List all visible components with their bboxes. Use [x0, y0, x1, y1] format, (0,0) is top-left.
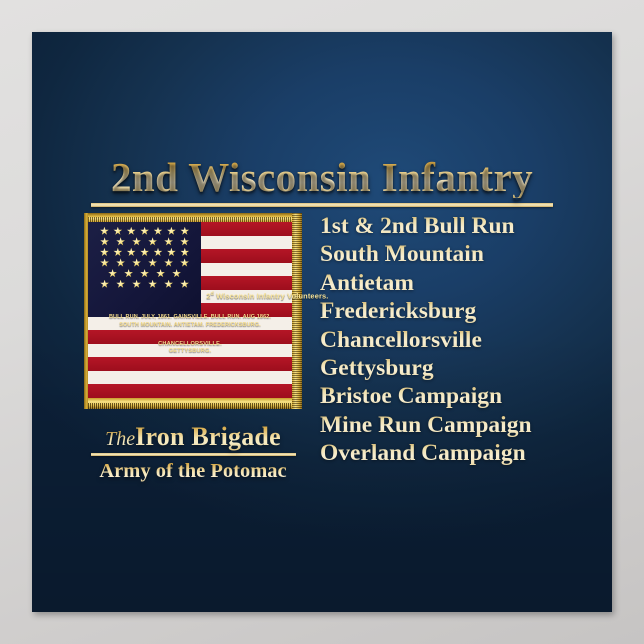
star-icon [116, 258, 125, 267]
campaign-item: Overland Campaign [320, 439, 582, 467]
flag-battle-inscription-lower: CHANCELLORSVILLE. GETTYSBURG. [88, 341, 292, 356]
star-icon [167, 248, 176, 257]
star-row [88, 227, 201, 236]
star-icon [132, 258, 141, 267]
flag-fringe-right [292, 213, 302, 409]
brigade-block: TheIron Brigade Army of the Potomac [84, 424, 302, 484]
flag-stripe [88, 357, 292, 371]
star-icon [132, 280, 141, 289]
star-icon [140, 227, 149, 236]
campaign-item: South Mountain [320, 240, 582, 268]
campaign-item: Fredericksburg [320, 297, 582, 325]
star-icon [100, 280, 109, 289]
poster: 2nd Wisconsin Infantry 2d Wisconsin Infa… [32, 32, 612, 612]
star-icon [180, 258, 189, 267]
flag-fringe-bottom [84, 398, 302, 409]
brigade-name: Iron Brigade [135, 422, 281, 451]
star-icon [116, 237, 125, 246]
campaign-item: 1st & 2nd Bull Run [320, 212, 582, 240]
star-icon [113, 227, 122, 236]
flag-battle-line-2: SOUTH MOUNTAIN. ANTIETAM. FREDERICKSBURG… [88, 322, 292, 329]
star-icon [140, 248, 149, 257]
flag-fringe-top [84, 213, 302, 222]
star-icon [154, 227, 163, 236]
star-icon [140, 269, 149, 278]
brigade-underline [91, 453, 296, 456]
title-block: 2nd Wisconsin Infantry [32, 157, 612, 207]
flag-battle-line-1: BULL RUN. JULY, 1861. GAINSVILLE. BULL R… [88, 314, 292, 321]
title-underline [91, 203, 553, 207]
campaign-item: Gettysburg [320, 354, 582, 382]
star-icon [172, 269, 181, 278]
star-row [88, 248, 201, 257]
star-icon [180, 248, 189, 257]
army-name: Army of the Potomac [84, 460, 302, 484]
regimental-flag: 2d Wisconsin Infantry Volunteers. BULL R… [84, 213, 302, 409]
star-icon [100, 258, 109, 267]
flag-canton [88, 222, 201, 317]
ordinal-suffix: d [210, 291, 213, 297]
flag-field: 2d Wisconsin Infantry Volunteers. BULL R… [88, 222, 292, 398]
star-icon [164, 237, 173, 246]
flag-battle-line-4: GETTYSBURG. [88, 348, 292, 356]
star-icon [154, 248, 163, 257]
star-icon [116, 280, 125, 289]
star-icon [180, 227, 189, 236]
star-icon [127, 227, 136, 236]
poster-content: 2nd Wisconsin Infantry 2d Wisconsin Infa… [32, 32, 612, 612]
brigade-the-word: The [105, 428, 135, 450]
flag-stripe [88, 371, 292, 385]
brigade-title-line: TheIron Brigade [84, 424, 302, 450]
page-title: 2nd Wisconsin Infantry [111, 157, 533, 198]
campaign-list: 1st & 2nd Bull RunSouth MountainAntietam… [320, 212, 582, 468]
campaign-item: Antietam [320, 269, 582, 297]
star-icon [100, 248, 109, 257]
star-row [88, 258, 201, 267]
star-row [88, 280, 201, 289]
star-icon [180, 237, 189, 246]
star-icon [113, 248, 122, 257]
star-icon [108, 269, 117, 278]
star-icon [148, 237, 157, 246]
campaign-item: Chancellorsville [320, 326, 582, 354]
flag-battle-inscription-upper: BULL RUN. JULY, 1861. GAINSVILLE. BULL R… [88, 314, 292, 329]
flag-stripe [88, 384, 292, 398]
star-row [88, 237, 201, 246]
star-icon [132, 237, 141, 246]
star-icon [124, 269, 133, 278]
star-grid [88, 222, 201, 289]
star-icon [148, 280, 157, 289]
star-row [88, 269, 201, 278]
flag-unit-inscription: 2d Wisconsin Infantry Volunteers. [201, 291, 292, 300]
star-icon [148, 258, 157, 267]
star-icon [167, 227, 176, 236]
star-icon [100, 227, 109, 236]
campaign-item: Mine Run Campaign [320, 411, 582, 439]
star-icon [156, 269, 165, 278]
star-icon [180, 280, 189, 289]
star-icon [127, 248, 136, 257]
star-icon [164, 258, 173, 267]
star-icon [164, 280, 173, 289]
star-icon [100, 237, 109, 246]
campaign-item: Bristoe Campaign [320, 382, 582, 410]
